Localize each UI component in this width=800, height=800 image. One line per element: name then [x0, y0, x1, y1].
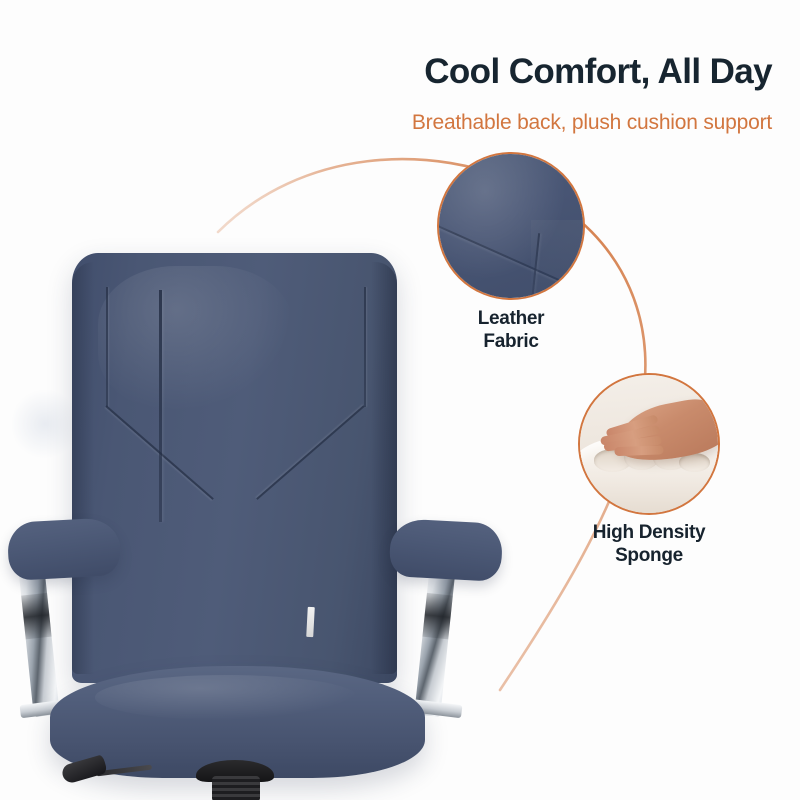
chair-backrest [72, 253, 397, 683]
backrest-seam-right [364, 287, 366, 407]
callout-high-density-sponge: High Density Sponge [578, 373, 720, 515]
product-feature-banner: Cool Comfort, All Day Breathable back, p… [0, 0, 800, 800]
backrest-chevron-right [256, 405, 364, 500]
leather-gloss [439, 154, 583, 298]
callout-sponge-label: High Density Sponge [593, 521, 706, 567]
page-title: Cool Comfort, All Day [212, 52, 772, 91]
backrest-right-edge [371, 262, 397, 675]
leather-fabric-image [437, 152, 585, 300]
chrome-reflection-left [21, 593, 51, 639]
backrest-left-edge [72, 262, 94, 675]
callout-sponge-label-line2: Sponge [593, 544, 706, 567]
finger-4 [615, 445, 664, 456]
gas-cylinder-shaft [212, 776, 260, 800]
armrest-pad-right [389, 518, 504, 582]
callout-sponge-label-line1: High Density [593, 521, 706, 544]
chrome-support-right [414, 565, 456, 717]
callout-leather-label: Leather Fabric [478, 307, 545, 353]
callout-leather-label-line1: Leather [478, 307, 545, 330]
sponge-image [578, 373, 720, 515]
chair-wheel-blur [12, 385, 78, 463]
backrest-seam-left [106, 287, 108, 407]
armrest-pad-left [7, 517, 122, 581]
backrest-center-seam [159, 290, 162, 522]
seat-highlight [95, 675, 358, 720]
callout-leather-label-line2: Fabric [478, 330, 545, 353]
chrome-reflection-right [422, 593, 452, 639]
chrome-support-left [18, 565, 60, 717]
backrest-highlight [98, 266, 293, 412]
page-subtitle: Breathable back, plush cushion support [152, 110, 772, 135]
callout-leather-fabric: Leather Fabric [437, 152, 585, 300]
